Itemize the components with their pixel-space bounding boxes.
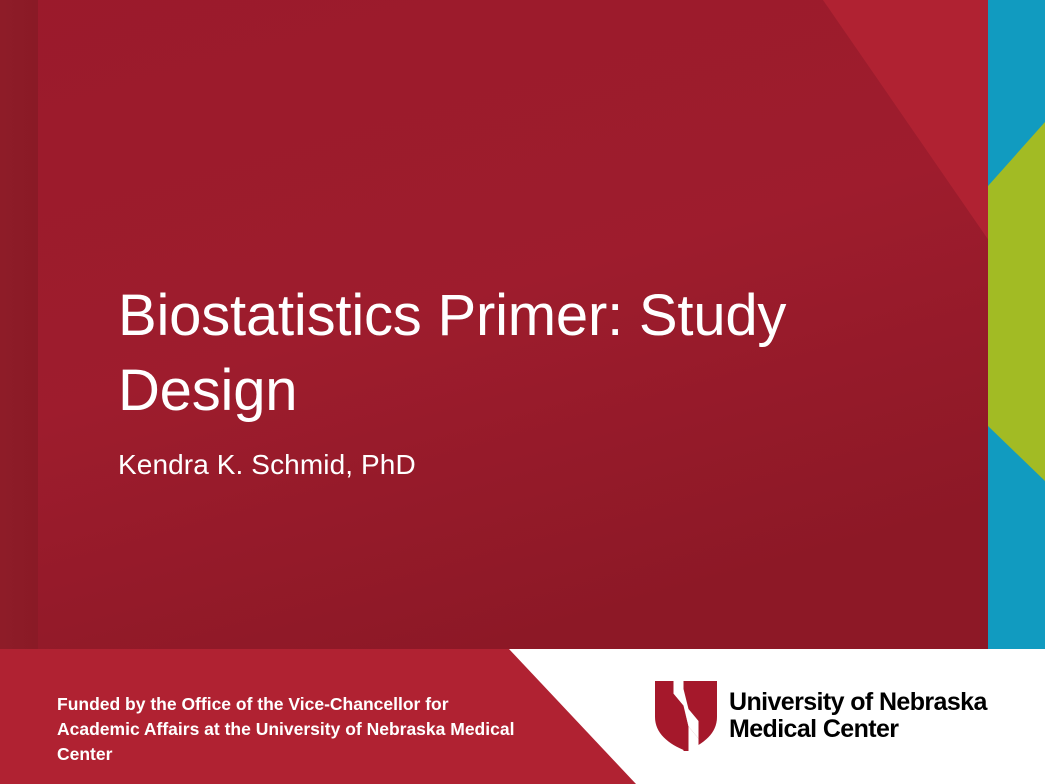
- page-title: Biostatistics Primer: Study Design: [118, 278, 848, 429]
- funding-attribution: Funded by the Office of the Vice-Chancel…: [57, 692, 517, 767]
- left-edge-strip: [0, 0, 38, 649]
- wordmark-line-2: Medical Center: [729, 716, 987, 743]
- unmc-wordmark: University of Nebraska Medical Center: [729, 689, 987, 743]
- unmc-logo: University of Nebraska Medical Center: [655, 681, 987, 751]
- presenter-name: Kendra K. Schmid, PhD: [118, 447, 848, 483]
- title-block: Biostatistics Primer: Study Design Kendr…: [118, 278, 848, 483]
- wordmark-line-1: University of Nebraska: [729, 689, 987, 716]
- title-slide: Biostatistics Primer: Study Design Kendr…: [0, 0, 1045, 784]
- nebraska-n-shield-icon: [655, 681, 717, 751]
